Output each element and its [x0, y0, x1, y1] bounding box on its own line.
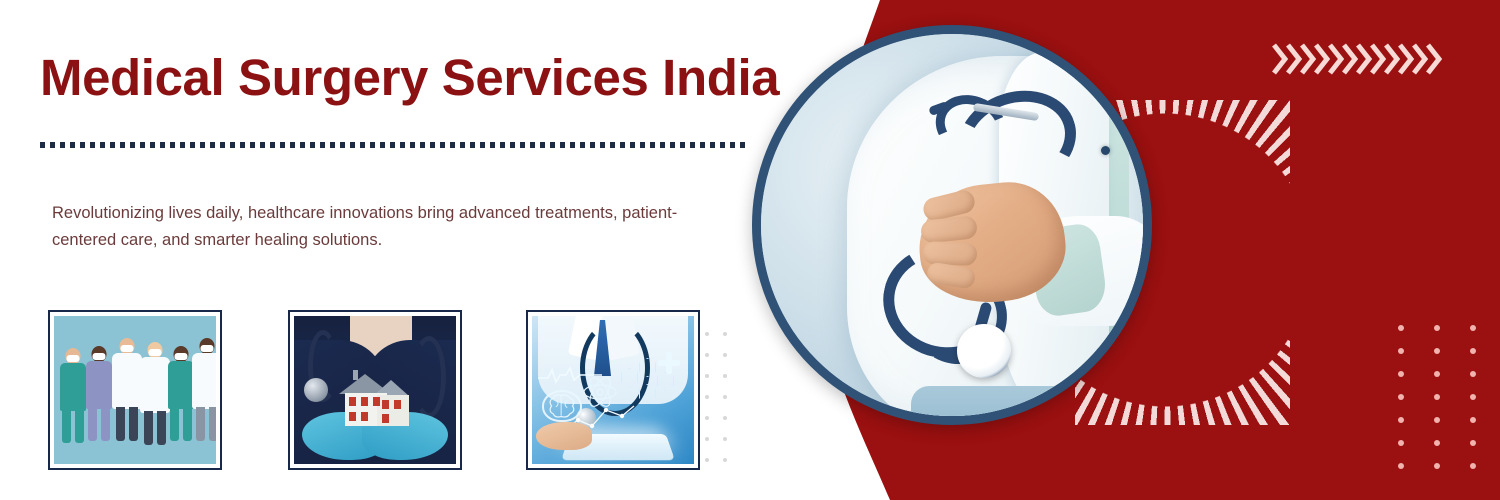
nurse-holding-house-photo[interactable] [288, 310, 462, 470]
medical-banner: Medical Surgery Services India Revolutio… [0, 0, 1500, 500]
hand-finger [923, 241, 978, 266]
digital-health-technology-photo[interactable] [526, 310, 700, 470]
dotted-divider [40, 142, 746, 148]
medical-cross-icon [658, 352, 680, 374]
stethoscope-chestpiece [957, 324, 1011, 378]
medical-team-illustration[interactable] [48, 310, 222, 470]
doctor-hand [536, 422, 592, 450]
doctor-holding-stethoscope-photo [752, 25, 1152, 425]
coat-button [1101, 146, 1110, 155]
team-member-doctor [190, 338, 216, 456]
model-house-icon [339, 374, 411, 426]
subtitle-text: Revolutionizing lives daily, healthcare … [52, 200, 712, 253]
page-title: Medical Surgery Services India [40, 48, 779, 107]
chevron-arrow-row [1272, 42, 1440, 76]
stethoscope-right-tube [412, 336, 446, 418]
dot-grid-left [705, 332, 741, 479]
dot-grid-right [1398, 325, 1500, 486]
chevron-right-icon [1426, 42, 1442, 76]
stethoscope-chestpiece [304, 378, 328, 402]
